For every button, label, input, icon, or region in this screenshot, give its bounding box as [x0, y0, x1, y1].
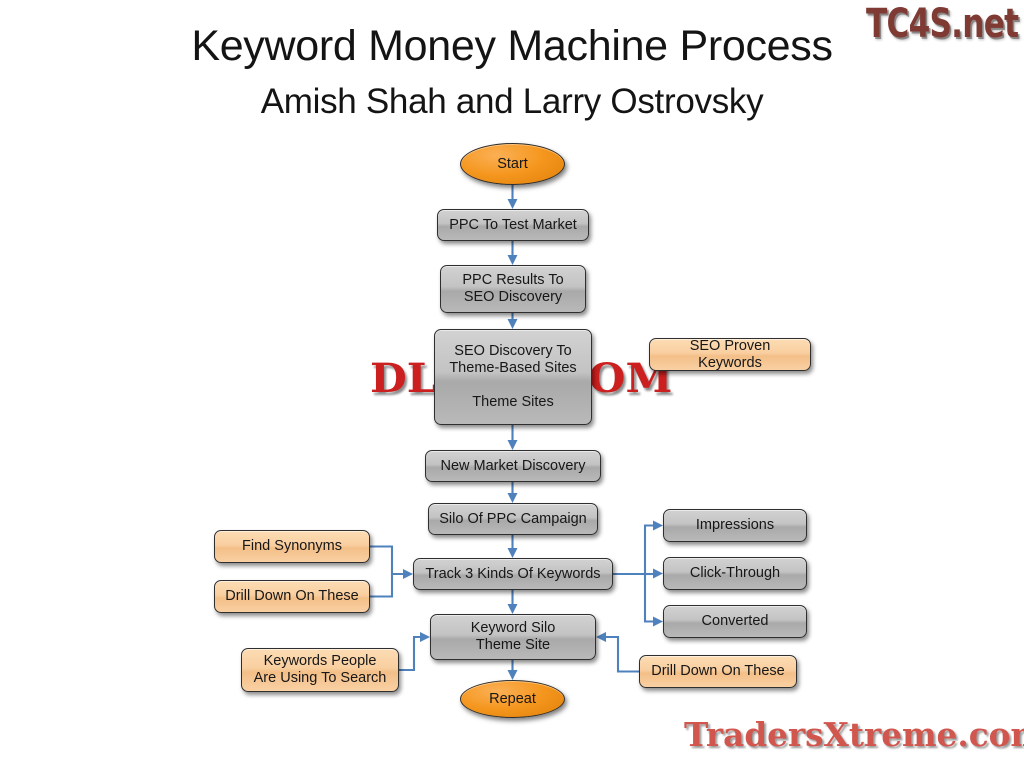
flow-node-label: Click-Through — [684, 565, 786, 582]
flow-node-drill_right: Drill Down On These — [639, 655, 797, 688]
flow-node-impressions: Impressions — [663, 509, 807, 542]
flow-node-start: Start — [460, 143, 565, 185]
flow-node-seo_proven: SEO Proven Keywords — [649, 338, 811, 371]
flow-node-label: PPC Results ToSEO Discovery — [456, 272, 569, 306]
flow-node-keyword_silo: Keyword SiloTheme Site — [430, 614, 596, 660]
flow-node-click_through: Click-Through — [663, 557, 807, 590]
flow-node-drill_left: Drill Down On These — [214, 580, 370, 613]
flow-node-label: Find Synonyms — [236, 538, 348, 555]
flow-node-label: Impressions — [690, 517, 780, 534]
flow-node-converted: Converted — [663, 605, 807, 638]
flow-node-label: Drill Down On These — [219, 588, 365, 605]
slide-canvas: Keyword Money Machine Process Amish Shah… — [0, 0, 1024, 768]
flow-node-label: PPC To Test Market — [443, 217, 583, 234]
flow-node-find_syn: Find Synonyms — [214, 530, 370, 563]
flow-node-label: SEO Discovery ToTheme-Based SitesTheme S… — [443, 343, 582, 411]
flow-node-label: Keywords PeopleAre Using To Search — [248, 653, 393, 687]
flow-node-new_market: New Market Discovery — [425, 450, 601, 482]
flow-node-label: Track 3 Kinds Of Keywords — [419, 566, 606, 583]
flow-node-label: Start — [491, 156, 534, 173]
flow-node-label: Silo Of PPC Campaign — [433, 511, 592, 528]
flow-node-ppc_results: PPC Results ToSEO Discovery — [440, 265, 586, 313]
flow-node-label: Keyword SiloTheme Site — [465, 620, 562, 654]
flow-node-label: Converted — [696, 613, 775, 630]
flow-node-label: Drill Down On These — [645, 663, 791, 680]
flow-node-silo_ppc: Silo Of PPC Campaign — [428, 503, 598, 535]
flow-node-label: SEO Proven Keywords — [650, 338, 810, 372]
flow-node-track3: Track 3 Kinds Of Keywords — [413, 558, 613, 590]
flow-node-label: New Market Discovery — [434, 458, 591, 475]
flow-node-seo_discovery: SEO Discovery ToTheme-Based SitesTheme S… — [434, 329, 592, 425]
flow-node-label: Repeat — [483, 691, 542, 708]
flow-node-ppc_test: PPC To Test Market — [437, 209, 589, 241]
flow-node-kw_people: Keywords PeopleAre Using To Search — [241, 648, 399, 692]
flow-node-repeat: Repeat — [460, 680, 565, 718]
